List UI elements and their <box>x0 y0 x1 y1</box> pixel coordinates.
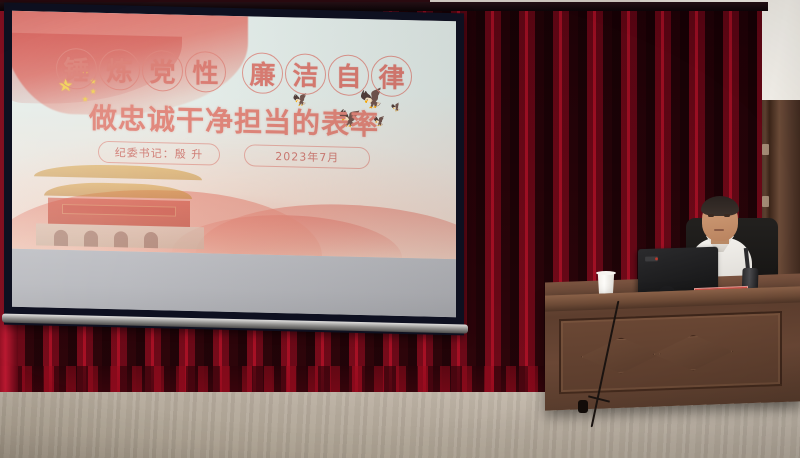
paper-cup-rim <box>596 271 616 275</box>
gate-arch-1 <box>54 230 68 246</box>
wooden-podium <box>545 286 800 410</box>
podium-diamond-left <box>581 336 661 375</box>
title-char-2: 炼 <box>99 49 140 91</box>
title-char-4: 性 <box>185 51 226 93</box>
laptop-indicator-icon <box>655 257 658 260</box>
gate-arch-3 <box>114 231 128 247</box>
speaker-eye-right <box>724 214 730 217</box>
door-hinge-top <box>762 144 769 155</box>
gate-arch-4 <box>144 232 158 248</box>
title-char-7: 自 <box>328 54 369 96</box>
gate-roof-lower <box>44 182 192 199</box>
screen-surface: ★ ★ ★ ★ ★ 🦅 🦅 🦅 🦅 🦅 锤 炼 党 性 <box>12 11 456 317</box>
projection-screen: ★ ★ ★ ★ ★ 🦅 🦅 🦅 🦅 🦅 锤 炼 党 性 <box>4 3 464 336</box>
tiananmen-gate-icon <box>28 161 208 251</box>
gate-arch-2 <box>84 231 98 247</box>
speaker-eye-left <box>708 214 714 217</box>
cable-plug <box>578 400 588 413</box>
speaker-hair <box>701 196 739 216</box>
presentation-room-photo: ★ ★ ★ ★ ★ 🦅 🦅 🦅 🦅 🦅 锤 炼 党 性 <box>0 0 800 458</box>
podium-front-panel <box>559 311 782 394</box>
title-char-8: 律 <box>371 55 412 97</box>
gate-roof-upper <box>34 164 202 181</box>
title-char-6: 洁 <box>285 53 326 95</box>
presentation-slide: ★ ★ ★ ★ ★ 🦅 🦅 🦅 🦅 🦅 锤 炼 党 性 <box>12 11 456 260</box>
title-char-5: 廉 <box>242 52 283 94</box>
speaker-mouth <box>714 229 724 231</box>
title-char-3: 党 <box>142 50 183 92</box>
screen-blank-area <box>12 249 456 317</box>
title-char-1: 锤 <box>56 48 97 90</box>
podium-diamond-right <box>653 333 733 372</box>
door-hinge-mid <box>762 196 769 207</box>
